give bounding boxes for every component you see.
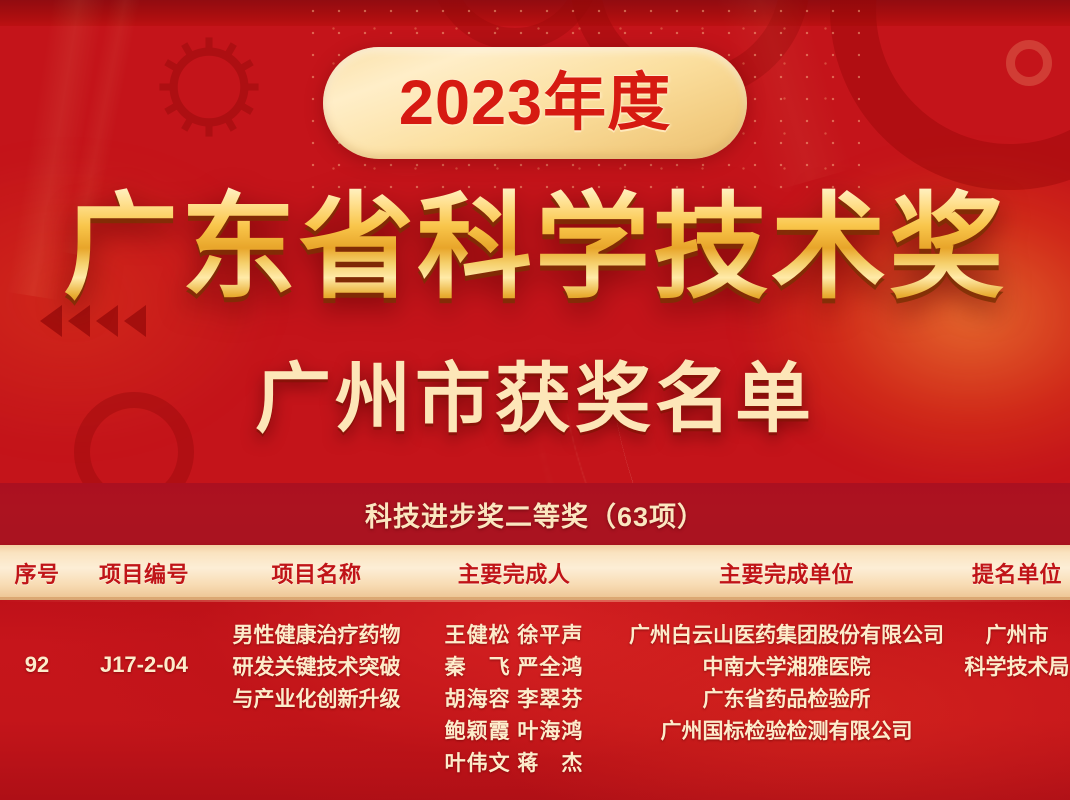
gear-icon (150, 28, 268, 146)
cell-code: J17-2-04 (74, 600, 214, 681)
table-row[interactable]: 92 J17-2-04 男性健康治疗药物 研发关键技术突破 与产业化创新升级 王… (0, 600, 1070, 780)
year-label: 2023年度 (399, 72, 671, 135)
table-top-shine (0, 600, 1070, 602)
column-header-nom: 提名单位 (964, 557, 1070, 589)
page-title: 广东省科学技术奖 (0, 186, 1070, 310)
cell-people: 王健松 徐平声 秦 飞 严全鸿 胡海容 李翠芬 鲍颖霞 叶海鸿 叶伟文 蒋 杰 (419, 600, 609, 780)
table-header-row: 序号 项目编号 项目名称 主要完成人 主要完成单位 提名单位 (0, 545, 1070, 600)
section-title-band: 科技进步奖二等奖（63项） (0, 483, 1070, 545)
cell-name: 男性健康治疗药物 研发关键技术突破 与产业化创新升级 (214, 600, 419, 716)
table-body: 92 J17-2-04 男性健康治疗药物 研发关键技术突破 与产业化创新升级 王… (0, 600, 1070, 800)
page-subtitle: 广州市获奖名单 (0, 337, 1070, 447)
award-list-poster: 2023年度 广东省科学技术奖 广州市获奖名单 科技进步奖二等奖（63项） 序号… (0, 0, 1070, 800)
column-header-name: 项目名称 (214, 557, 419, 589)
year-badge: 2023年度 (323, 47, 747, 159)
column-header-people: 主要完成人 (419, 557, 609, 589)
hero-banner: 2023年度 广东省科学技术奖 广州市获奖名单 (0, 0, 1070, 483)
column-header-no: 序号 (0, 557, 74, 589)
ring-icon (1006, 40, 1052, 86)
section-title: 科技进步奖二等奖（63项） (365, 495, 705, 534)
cell-units: 广州白云山医药集团股份有限公司 中南大学湘雅医院 广东省药品检验所 广州国标检验… (609, 600, 964, 748)
banner-top-shade (0, 0, 1070, 26)
column-header-units: 主要完成单位 (609, 557, 964, 589)
cell-nom: 广州市 科学技术局 (964, 600, 1070, 684)
column-header-code: 项目编号 (74, 557, 214, 589)
cell-no: 92 (0, 600, 74, 681)
